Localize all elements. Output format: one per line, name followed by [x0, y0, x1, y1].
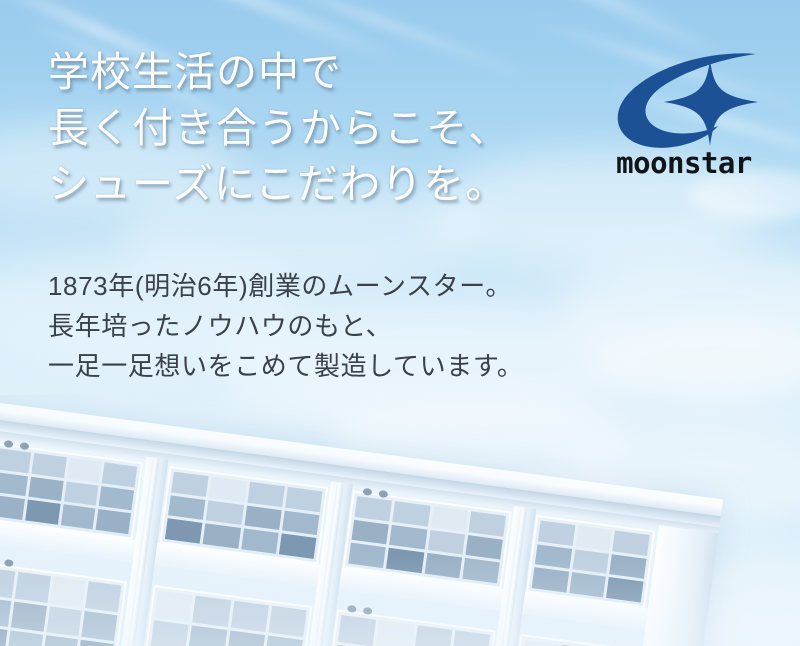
window-pane [96, 509, 131, 534]
window-pane [0, 495, 25, 520]
window-pane [25, 500, 60, 525]
window-pane [203, 524, 241, 549]
window-pane [28, 476, 63, 501]
window-pane [171, 472, 209, 497]
window-bay [141, 585, 312, 646]
window-pane [569, 572, 606, 597]
window-pane [151, 620, 189, 646]
school-building-photo [0, 395, 800, 646]
window-pane [206, 500, 244, 525]
window-pane [244, 505, 282, 530]
window-pane [427, 530, 465, 555]
window-pane [241, 529, 279, 554]
moonstar-wordmark: moonstar [588, 148, 780, 178]
window-pane [0, 448, 31, 473]
window-pane [414, 625, 452, 646]
window-pane [0, 597, 11, 628]
window-pane [535, 544, 572, 569]
window-pane [606, 577, 643, 602]
window-pane [285, 487, 323, 512]
window-pane [430, 506, 468, 531]
window-pane [85, 581, 121, 612]
window-pane [282, 510, 320, 535]
window-pane [572, 549, 609, 574]
window-pane [468, 511, 506, 536]
window-pane [60, 505, 95, 530]
window-pane [268, 606, 306, 637]
window-pane [532, 567, 569, 592]
window-pane [465, 535, 503, 560]
hero-banner: 学校生活の中で 長く付き合うからこそ、 シューズにこだわりを。 1873年(明治… [0, 0, 800, 646]
window-pane [11, 601, 47, 632]
window-pane [165, 519, 203, 544]
window-pane [609, 554, 646, 579]
window-pane [7, 631, 43, 646]
headline-line-3: シューズにこだわりを。 [48, 156, 510, 212]
window-pane [338, 615, 376, 646]
window-pane [15, 572, 51, 603]
headline-line-1: 学校生活の中で [48, 44, 510, 100]
window-pane [67, 458, 102, 483]
window-pane [386, 548, 424, 573]
window-pane [209, 477, 247, 502]
cloud [600, 320, 800, 400]
window-pane [538, 521, 575, 546]
window-pane [575, 526, 612, 551]
window-pane [189, 625, 227, 646]
lead-line-3: 一足一足想いをこめて製造しています。 [48, 346, 523, 386]
window-pane [264, 635, 302, 646]
window-pane [192, 596, 230, 627]
window-bay [0, 562, 127, 646]
window-pane [42, 635, 78, 646]
window-pane [613, 531, 650, 556]
building-facade [0, 395, 723, 646]
window-pane [99, 486, 134, 511]
window-pane [355, 496, 393, 521]
window-pane [102, 462, 137, 487]
lead-line-1: 1873年(明治6年)創業のムーンスター。 [48, 266, 523, 306]
window-pane [389, 525, 427, 550]
hero-headline: 学校生活の中で 長く付き合うからこそ、 シューズにこだわりを。 [48, 44, 510, 212]
window-pane [46, 606, 82, 637]
window-pane [376, 620, 414, 646]
window-pane [351, 520, 389, 545]
crescent-moon-and-star-icon [606, 52, 766, 148]
window-pane [78, 640, 114, 646]
window-pane [0, 626, 7, 646]
window-bay [324, 609, 495, 646]
window-pane [81, 611, 117, 642]
window-pane [279, 534, 317, 559]
headline-line-2: 長く付き合うからこそ、 [48, 100, 510, 156]
window-bay [508, 634, 640, 646]
window-pane [50, 577, 86, 608]
window-pane [521, 639, 559, 646]
window-bay [526, 515, 655, 608]
window-pane [247, 482, 285, 507]
window-pane [168, 495, 206, 520]
window-pane [0, 567, 15, 598]
window-pane [462, 558, 500, 583]
window-pane [226, 630, 264, 646]
window-pane [63, 481, 98, 506]
window-pane [155, 591, 193, 622]
window-pane [452, 630, 490, 646]
hero-lead-paragraph: 1873年(明治6年)創業のムーンスター。 長年培ったノウハウのもと、 一足一足… [48, 266, 523, 386]
moonstar-logo: moonstar [588, 52, 780, 178]
lead-line-2: 長年培ったノウハウのもと、 [48, 306, 523, 346]
window-pane [348, 543, 386, 568]
window-pane [0, 472, 28, 497]
window-pane [392, 501, 430, 526]
window-pane [31, 453, 66, 478]
window-pane [230, 601, 268, 632]
window-pane [424, 553, 462, 578]
